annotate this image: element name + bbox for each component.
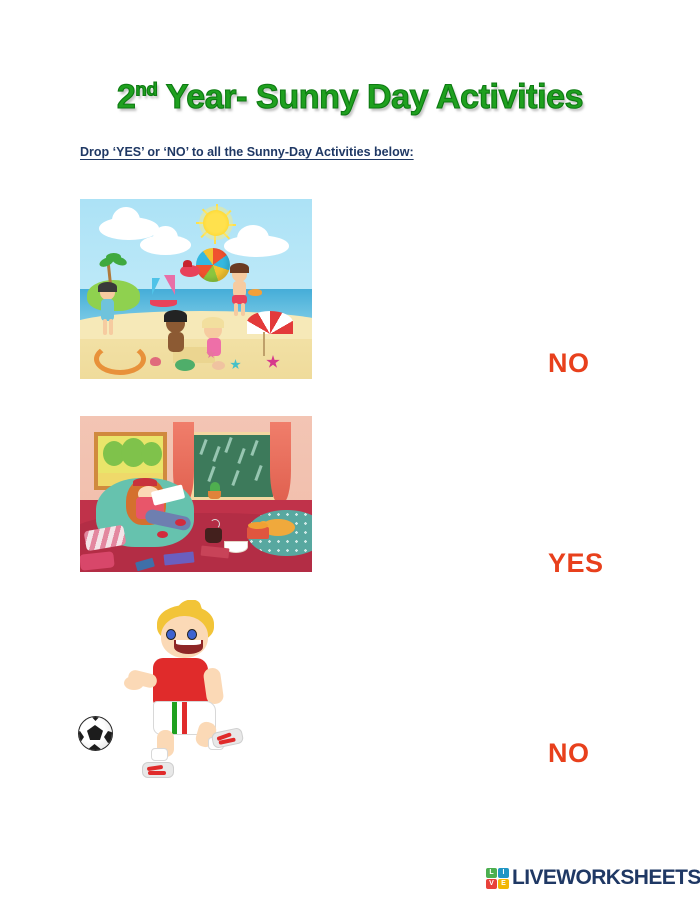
ball-panel	[78, 731, 84, 743]
answer-drop-row-1[interactable]: NO	[548, 348, 590, 379]
shorts-stripe-red	[182, 702, 187, 734]
logo-wordmark: LIVEWORKSHEETS	[512, 866, 700, 890]
boy-sock-front	[151, 748, 168, 761]
worksheet-page: 2nd Year- Sunny Day Activities Drop ‘YES…	[0, 0, 700, 904]
fish-icon	[248, 289, 262, 296]
answer-drop-row-3[interactable]: NO	[548, 738, 590, 769]
boy-red-shirt	[153, 658, 208, 707]
ball-panel	[104, 731, 113, 743]
page-title: 2nd Year- Sunny Day Activities	[0, 78, 700, 117]
curtain-right	[270, 422, 291, 503]
page-title-rest: Year- Sunny Day Activities	[157, 78, 583, 116]
turtle-icon	[175, 359, 195, 371]
boy-eye	[187, 629, 197, 640]
tree-shape	[141, 442, 162, 466]
beach-umbrella-icon	[247, 311, 293, 334]
beach-ball-icon	[196, 248, 230, 282]
window-with-rain	[191, 432, 276, 507]
ball-panel	[87, 725, 103, 740]
shorts-stripe-green	[172, 702, 177, 734]
instruction-text: Drop ‘YES’ or ‘NO’ to all the Sunny-Day …	[80, 145, 414, 159]
beach-umbrella-pole	[263, 332, 265, 356]
sand-snake-toy	[94, 343, 146, 375]
cloud-icon	[140, 235, 191, 255]
boy-smile	[174, 640, 203, 654]
soccer-ball-icon	[78, 716, 113, 751]
answer-drop-row-2[interactable]: YES	[548, 548, 604, 579]
seashell-icon	[212, 361, 225, 370]
snack-box	[247, 527, 269, 539]
sailboat-hull	[150, 300, 178, 307]
boy-shoe-front	[142, 762, 174, 778]
page-title-ordinal-suffix: nd	[135, 79, 157, 100]
boy-playing-soccer-image	[76, 600, 260, 780]
plant-pot	[208, 491, 221, 499]
steam-icon	[210, 519, 220, 529]
beach-scene-image	[80, 199, 312, 379]
rainy-indoor-scene-image	[80, 416, 312, 572]
seashell-icon	[150, 357, 161, 366]
coffee-pot	[205, 528, 222, 543]
logo-tile-e: E	[498, 879, 509, 889]
ball-panel	[89, 716, 102, 721]
sailboat-sail-small	[152, 278, 160, 295]
ball-panel	[87, 744, 102, 751]
girl-shoe	[175, 519, 186, 526]
logo-tile-v: V	[486, 879, 497, 889]
boy-fist	[124, 676, 144, 690]
logo-tile-i: I	[498, 868, 509, 878]
liveworksheets-logo[interactable]: L I V E LIVEWORKSHEETS	[486, 866, 700, 890]
logo-tiles: L I V E	[486, 868, 509, 889]
page-title-number: 2	[117, 78, 136, 116]
logo-tile-l: L	[486, 868, 497, 878]
boy-eye	[166, 629, 176, 640]
girl-headband	[133, 478, 156, 486]
sailboat-sail	[164, 275, 175, 295]
sun-icon	[203, 210, 229, 236]
